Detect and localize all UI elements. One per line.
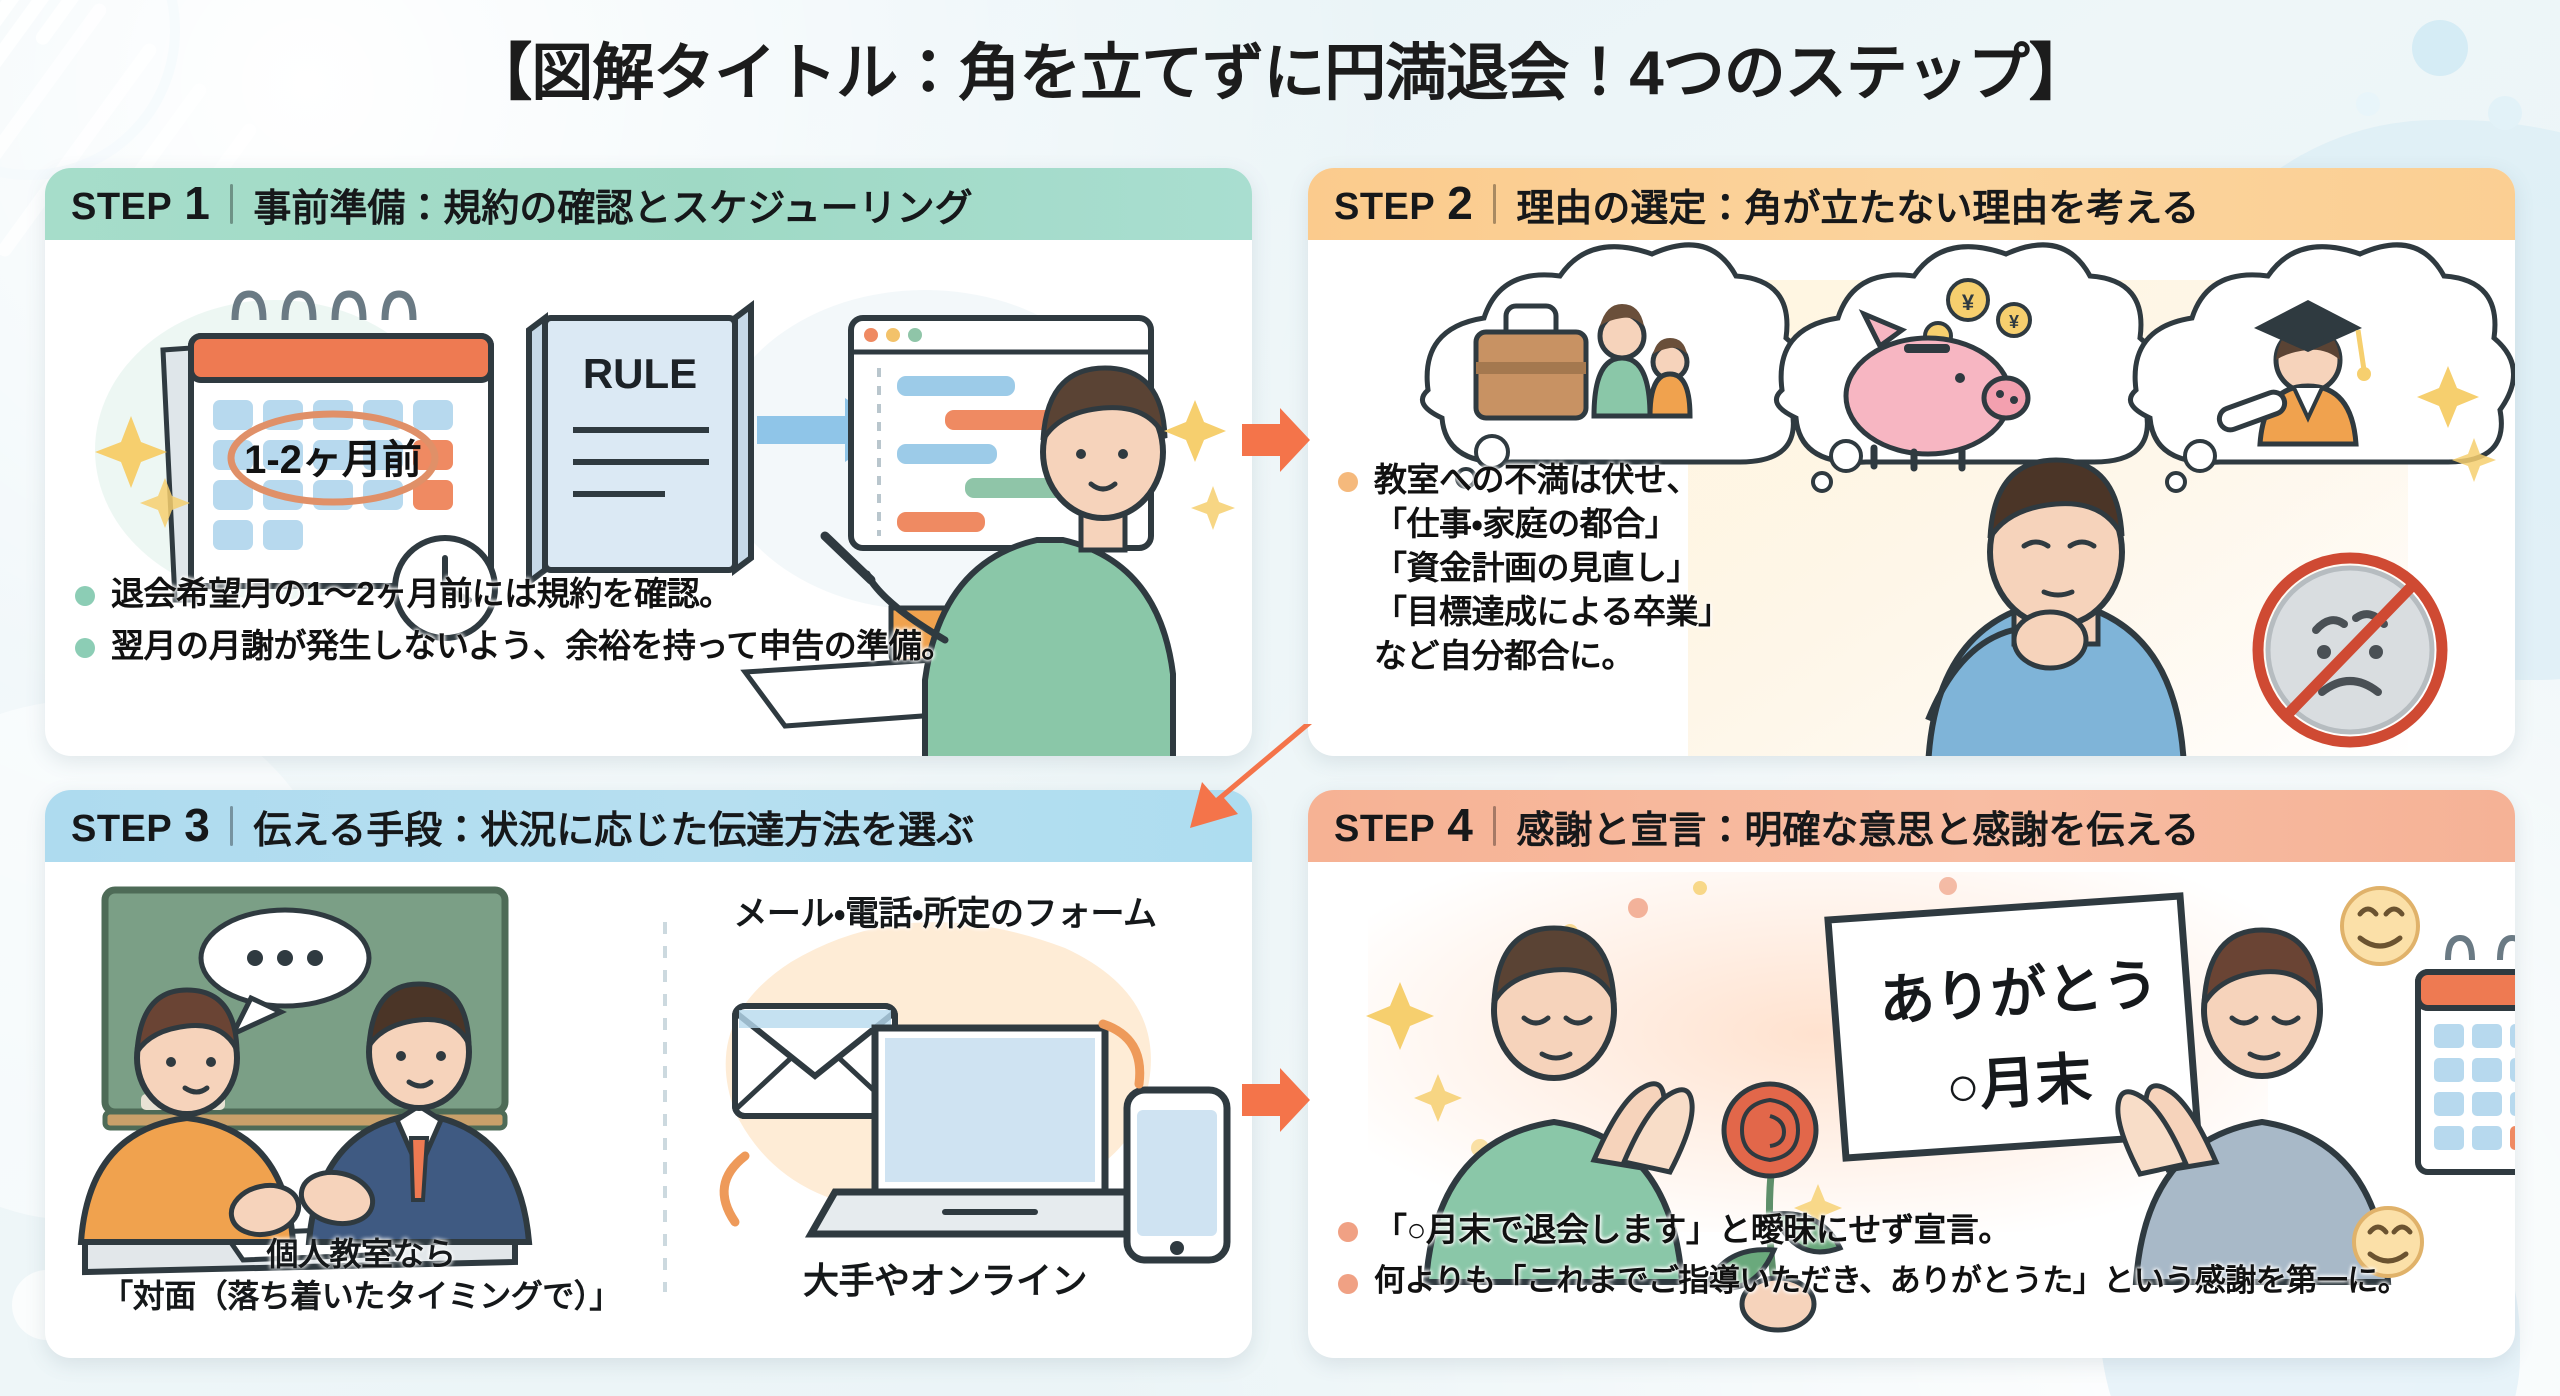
step-4-divider bbox=[1493, 806, 1496, 846]
step-3-number: 3 bbox=[184, 802, 210, 848]
step-1-header: STEP 1 事前準備：規約の確認とスケジューリング bbox=[45, 168, 1252, 240]
rulebook-illustration: RULE bbox=[529, 306, 751, 582]
sign-line-2: ○月末 bbox=[1944, 1047, 2093, 1119]
step-4-bullet-text: 「○月末で退会します」と曖昧にせず宣言。 bbox=[1374, 1208, 2011, 1252]
step-1-number: 1 bbox=[184, 180, 210, 226]
step-3-divider bbox=[230, 806, 233, 846]
step-4-header: STEP 4 感謝と宣言：明確な意思と感謝を伝える bbox=[1308, 790, 2515, 862]
step-4-heading: 感謝と宣言：明確な意思と感謝を伝える bbox=[1516, 799, 2199, 854]
page-title: 【図解タイトル：角を立てずに円満退会！4つのステップ】 bbox=[0, 22, 2560, 112]
step-card-3[interactable]: STEP 3 伝える手段：状況に応じた伝達方法を選ぶ bbox=[45, 790, 1252, 1358]
step-3-body: 個人教室なら 「対面（落ち着いたタイミングで）」 メール・電話・所定のフォーム … bbox=[45, 862, 1252, 1358]
arrow-step3-to-step4-icon bbox=[1236, 1060, 1316, 1140]
step-1-body: 1-2ヶ月前 RULE bbox=[45, 240, 1252, 756]
step-3-left-caption: 個人教室なら 「対面（落ち着いたタイミングで）」 bbox=[81, 1234, 641, 1317]
step-1-bullet-text: 翌月の月謝が発生しないよう、余裕を持って申告の準備。 bbox=[111, 624, 954, 668]
step-2-bullets: 教室への不満は伏せ、 「仕事・家庭の都合」 「資金計画の見直し」 「目標達成によ… bbox=[1338, 458, 2055, 685]
step-2-word: STEP bbox=[1334, 186, 1435, 229]
step-card-1[interactable]: STEP 1 事前準備：規約の確認とスケジューリング bbox=[45, 168, 1252, 756]
step-1-slot: STEP 1 事前準備：規約の確認とスケジューリング bbox=[45, 168, 1280, 780]
devices-illustration bbox=[724, 922, 1227, 1260]
calendar-badge-text: 1-2ヶ月前 bbox=[244, 438, 422, 482]
prohibited-angry-face-icon bbox=[2258, 558, 2442, 742]
rulebook-label: RULE bbox=[583, 350, 697, 397]
step-4-body: ありがとう ○月末 bbox=[1308, 862, 2515, 1358]
step-card-2[interactable]: STEP 2 理由の選定：角が立たない理由を考える bbox=[1308, 168, 2515, 756]
step-4-bullets: 「○月末で退会します」と曖昧にせず宣言。 何よりも「これまでご指導いただき、あり… bbox=[1338, 1208, 2489, 1309]
step-2-slot: STEP 2 理由の選定：角が立たない理由を考える bbox=[1280, 168, 2515, 780]
step-1-bullet-item: 退会希望月の1〜2ヶ月前には規約を確認。 bbox=[75, 572, 1226, 616]
bullet-dot-icon bbox=[1338, 1274, 1358, 1294]
step-2-label: STEP 2 bbox=[1334, 180, 1473, 229]
bullet-dot-icon bbox=[1338, 472, 1358, 492]
arrow-step2-to-step3-icon bbox=[1180, 716, 1320, 836]
step-3-heading: 伝える手段：状況に応じた伝達方法を選ぶ bbox=[253, 799, 974, 854]
step-2-bullet-text: 教室への不満は伏せ、 「仕事・家庭の都合」 「資金計画の見直し」 「目標達成によ… bbox=[1374, 458, 1731, 677]
bullet-dot-icon bbox=[75, 586, 95, 606]
step-3-label: STEP 3 bbox=[71, 802, 210, 851]
face-to-face-illustration bbox=[81, 890, 529, 1272]
svg-text:¥: ¥ bbox=[2009, 312, 2019, 332]
step-1-divider bbox=[230, 184, 233, 224]
step-4-bullet-item: 何よりも「これまでご指導いただき、ありがとうた」という感謝を第一に。 bbox=[1338, 1260, 2489, 1301]
step-3-left-caption-text: 個人教室なら 「対面（落ち着いたタイミングで）」 bbox=[101, 1236, 621, 1314]
step-2-header: STEP 2 理由の選定：角が立たない理由を考える bbox=[1308, 168, 2515, 240]
step-1-label: STEP 1 bbox=[71, 180, 210, 229]
step-4-number: 4 bbox=[1447, 802, 1473, 848]
step-3-word: STEP bbox=[71, 808, 172, 851]
step-2-bullet-item: 教室への不満は伏せ、 「仕事・家庭の都合」 「資金計画の見直し」 「目標達成によ… bbox=[1338, 458, 2055, 677]
step-2-heading: 理由の選定：角が立たない理由を考える bbox=[1516, 177, 2199, 232]
step-1-illustration: 1-2ヶ月前 RULE bbox=[45, 240, 1252, 756]
step-4-bullet-text: 何よりも「これまでご指導いただき、ありがとうた」という感謝を第一に。 bbox=[1374, 1260, 2408, 1301]
step-4-word: STEP bbox=[1334, 808, 1435, 851]
step-2-body: ¥ ¥ bbox=[1308, 240, 2515, 756]
step-3-right-caption: 大手やオンライン bbox=[655, 1258, 1235, 1305]
step-card-4[interactable]: STEP 4 感謝と宣言：明確な意思と感謝を伝える bbox=[1308, 790, 2515, 1358]
step-2-number: 2 bbox=[1447, 180, 1473, 226]
step-4-label: STEP 4 bbox=[1334, 802, 1473, 851]
step-3-slot: STEP 3 伝える手段：状況に応じた伝達方法を選ぶ bbox=[45, 780, 1280, 1358]
step-1-word: STEP bbox=[71, 186, 172, 229]
bullet-dot-icon bbox=[1338, 1222, 1358, 1242]
step-3-header: STEP 3 伝える手段：状況に応じた伝達方法を選ぶ bbox=[45, 790, 1252, 862]
arrow-step1-to-step2-icon bbox=[1236, 400, 1316, 480]
step-1-bullet-item: 翌月の月謝が発生しないよう、余裕を持って申告の準備。 bbox=[75, 624, 1226, 668]
bullet-dot-icon bbox=[75, 638, 95, 658]
thought-bubble-work-family bbox=[1422, 245, 1805, 487]
smiley-face-icon-top bbox=[2342, 888, 2418, 964]
step-4-bullet-item: 「○月末で退会します」と曖昧にせず宣言。 bbox=[1338, 1208, 2489, 1252]
step-1-bullet-text: 退会希望月の1〜2ヶ月前には規約を確認。 bbox=[111, 572, 732, 616]
step-2-divider bbox=[1493, 184, 1496, 224]
svg-text:¥: ¥ bbox=[1962, 290, 1975, 315]
mini-calendar-illustration bbox=[2418, 938, 2515, 1172]
step-1-heading: 事前準備：規約の確認とスケジューリング bbox=[253, 177, 972, 232]
step-1-bullets: 退会希望月の1〜2ヶ月前には規約を確認。 翌月の月謝が発生しないよう、余裕を持っ… bbox=[75, 572, 1226, 676]
step-4-slot: STEP 4 感謝と宣言：明確な意思と感謝を伝える bbox=[1280, 780, 2515, 1358]
step-3-right-title: メール・電話・所定のフォーム bbox=[655, 892, 1235, 936]
